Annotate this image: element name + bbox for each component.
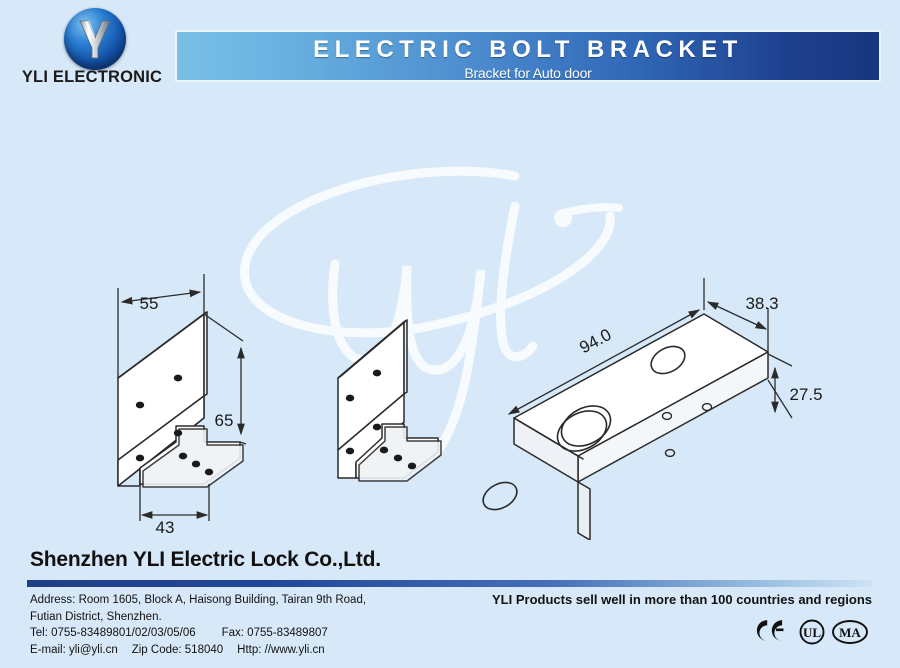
svg-text:MA: MA	[839, 625, 861, 640]
page-header: YLI ELECTRONIC ELECTRIC BOLT BRACKET Bra…	[0, 0, 900, 96]
datasheet-page: YLI ELECTRONIC ELECTRIC BOLT BRACKET Bra…	[0, 0, 900, 668]
telephone: Tel: 0755-83489801/02/03/05/06	[30, 627, 196, 639]
technical-drawing-area: 55 65 43	[0, 96, 900, 540]
view-center-bracket	[338, 320, 441, 481]
zip-code: Zip Code: 518040	[132, 642, 223, 659]
address-line-1: Address: Room 1605, Block A, Haisong Bui…	[30, 592, 460, 609]
title-banner: ELECTRIC BOLT BRACKET Bracket for Auto d…	[175, 30, 881, 82]
dimension-label-65: 65	[215, 411, 234, 430]
dimension-27-5	[768, 354, 792, 418]
certification-marks: UL MA	[754, 615, 872, 649]
email[interactable]: E-mail: yli@yli.cn	[30, 644, 118, 656]
fax: Fax: 0755-83489807	[222, 625, 328, 642]
ce-mark-icon	[757, 620, 784, 641]
marketing-tagline: YLI Products sell well in more than 100 …	[492, 592, 872, 607]
brand-logo-text: YLI ELECTRONIC	[12, 68, 172, 87]
page-footer: Shenzhen YLI Electric Lock Co.,Ltd. Addr…	[0, 540, 900, 668]
ul-mark-icon: UL	[801, 621, 824, 644]
yli-orb-logo-icon	[64, 8, 126, 70]
svg-text:UL: UL	[803, 625, 821, 640]
view-left-bracket	[118, 312, 243, 487]
footer-divider	[27, 580, 873, 587]
brand-logo: YLI ELECTRONIC	[12, 6, 172, 92]
website-url[interactable]: Http: //www.yli.cn	[237, 642, 325, 659]
view-right-plate	[514, 314, 768, 540]
dimension-label-94: 94.0	[576, 325, 614, 357]
address-line-2: Futian District, Shenzhen.	[30, 609, 460, 626]
dimension-label-38-3: 38.3	[745, 294, 778, 313]
page-title: ELECTRIC BOLT BRACKET	[177, 36, 879, 64]
dimension-label-43: 43	[156, 518, 175, 537]
contact-block: Address: Room 1605, Block A, Haisong Bui…	[30, 592, 460, 658]
bracket-views: 55 65 43	[0, 96, 900, 540]
dimension-label-55: 55	[140, 294, 159, 313]
ma-mark-icon: MA	[833, 621, 867, 643]
company-name: Shenzhen YLI Electric Lock Co.,Ltd.	[30, 548, 381, 572]
dimension-label-27-5: 27.5	[789, 385, 822, 404]
page-subtitle: Bracket for Auto door	[177, 65, 879, 81]
